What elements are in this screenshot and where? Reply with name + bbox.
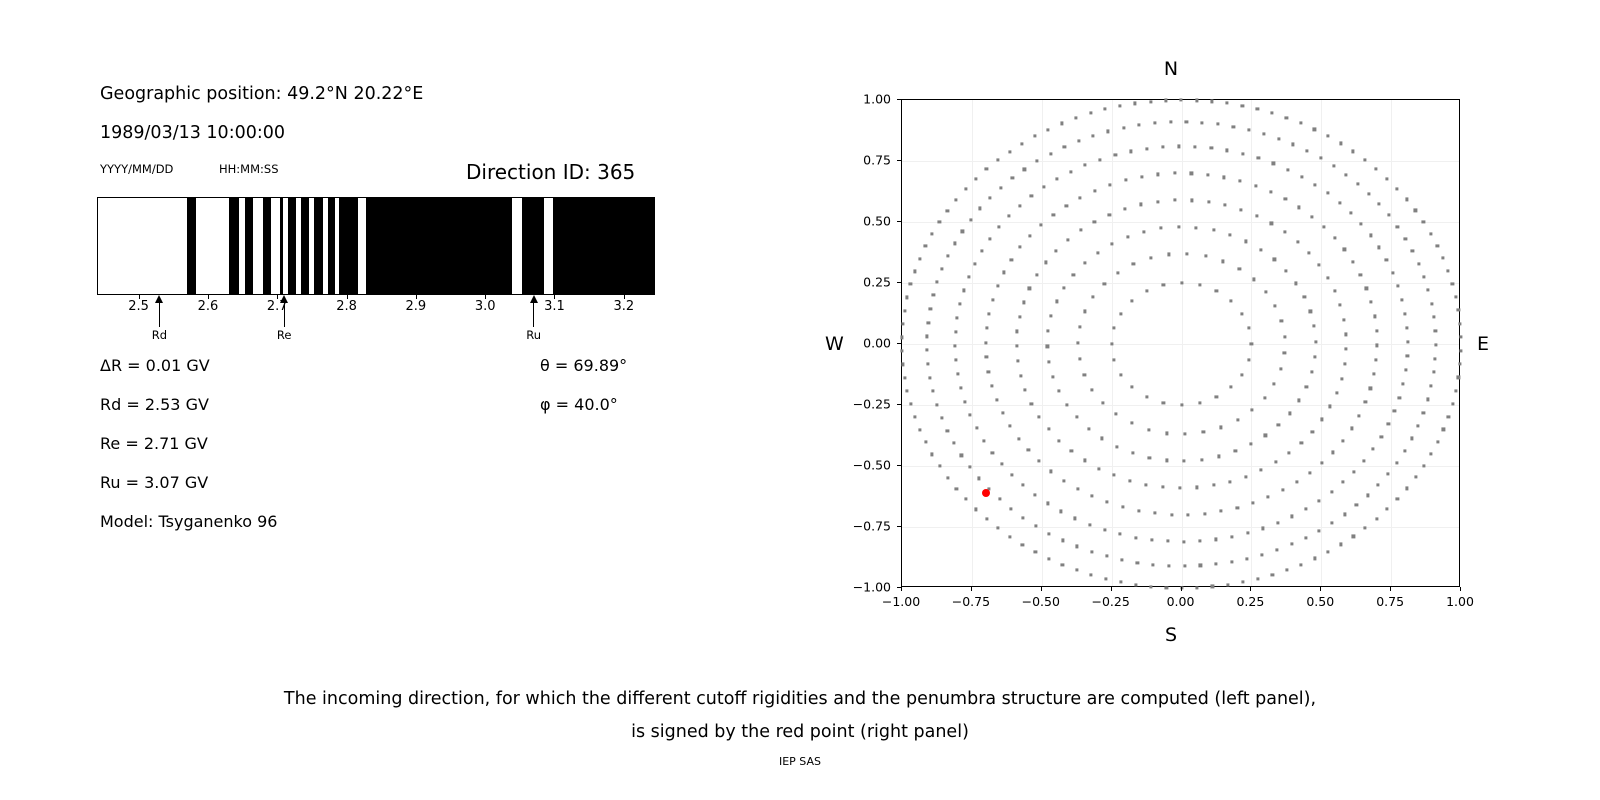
direction-dot bbox=[1442, 257, 1445, 260]
direction-dot bbox=[1137, 123, 1140, 126]
direction-dot bbox=[1372, 447, 1375, 450]
direction-dot bbox=[1047, 128, 1050, 131]
direction-dot bbox=[1333, 236, 1336, 239]
direction-dot bbox=[1018, 315, 1021, 318]
direction-dot bbox=[1072, 273, 1075, 276]
direction-dot bbox=[1386, 508, 1389, 511]
direction-dot bbox=[1180, 403, 1183, 406]
direction-dot bbox=[1079, 196, 1082, 199]
direction-dot bbox=[1296, 240, 1299, 243]
direction-dot bbox=[959, 386, 962, 389]
direction-dot bbox=[1364, 526, 1367, 529]
direction-dot bbox=[1047, 532, 1050, 535]
direction-dot bbox=[1386, 472, 1389, 475]
direction-dot bbox=[1297, 206, 1300, 209]
direction-dot bbox=[1019, 246, 1022, 249]
direction-dot bbox=[1180, 98, 1183, 101]
direction-dot bbox=[1241, 152, 1244, 155]
direction-dot bbox=[1010, 258, 1013, 261]
direction-dot bbox=[1075, 569, 1078, 572]
direction-dot bbox=[997, 226, 1000, 229]
direction-dot bbox=[1375, 358, 1378, 361]
direction-dot bbox=[1251, 408, 1254, 411]
direction-dot bbox=[1083, 261, 1086, 264]
direction-dot bbox=[1132, 262, 1135, 265]
direction-dot bbox=[1063, 145, 1066, 148]
x-axis-tick-label: −0.25 bbox=[1091, 594, 1129, 609]
direction-dot bbox=[1318, 263, 1321, 266]
direction-dot bbox=[1050, 314, 1053, 317]
caption-line-2: is signed by the red point (right panel) bbox=[0, 716, 1600, 749]
direction-dot bbox=[1110, 342, 1113, 345]
direction-dot bbox=[1285, 116, 1288, 119]
direction-dot bbox=[1009, 507, 1012, 510]
direction-dot bbox=[1363, 459, 1366, 462]
direction-dot bbox=[995, 398, 998, 401]
y-axis-tick-label: −1.00 bbox=[839, 580, 891, 595]
direction-dot bbox=[1458, 322, 1461, 325]
x-axis-tick bbox=[1460, 587, 1461, 591]
direction-dot bbox=[1183, 564, 1186, 567]
direction-dot bbox=[1270, 112, 1273, 115]
direction-dot bbox=[1340, 377, 1343, 380]
caption-line-1: The incoming direction, for which the di… bbox=[0, 683, 1600, 716]
direction-dot bbox=[991, 298, 994, 301]
direction-dot bbox=[1422, 411, 1425, 414]
direction-dot bbox=[996, 159, 999, 162]
direction-dot bbox=[1387, 214, 1390, 217]
direction-dot bbox=[1165, 459, 1168, 462]
direction-dot bbox=[1116, 271, 1119, 274]
direction-dot bbox=[1351, 260, 1354, 263]
direction-dot bbox=[1216, 123, 1219, 126]
direction-dot bbox=[1137, 509, 1140, 512]
x-axis-tick-label: −1.00 bbox=[882, 594, 920, 609]
y-axis-tick-label: 1.00 bbox=[839, 92, 891, 107]
direction-dot bbox=[1345, 348, 1348, 351]
direction-dot bbox=[1019, 374, 1022, 377]
direction-dot bbox=[1262, 132, 1265, 135]
direction-dot bbox=[1035, 273, 1038, 276]
direction-dot bbox=[927, 321, 930, 324]
y-axis-tick bbox=[897, 587, 901, 588]
direction-dot bbox=[1033, 135, 1036, 138]
x-axis-tick bbox=[1390, 587, 1391, 591]
direction-dot bbox=[1060, 510, 1063, 513]
direction-dot bbox=[1335, 391, 1338, 394]
direction-dot bbox=[1403, 449, 1406, 452]
direction-dot bbox=[1365, 287, 1368, 290]
direction-dot bbox=[1256, 108, 1259, 111]
direction-dot bbox=[998, 498, 1001, 501]
direction-dot bbox=[1241, 104, 1244, 107]
direction-dot bbox=[927, 362, 930, 365]
direction-dot bbox=[926, 335, 929, 338]
direction-dot bbox=[1313, 325, 1316, 328]
direction-dot bbox=[1090, 494, 1093, 497]
y-axis-tick bbox=[897, 343, 901, 344]
direction-dot bbox=[946, 476, 949, 479]
direction-dot bbox=[903, 376, 906, 379]
direction-dot bbox=[1210, 146, 1213, 149]
direction-dot bbox=[1099, 158, 1102, 161]
direction-dot bbox=[1016, 330, 1019, 333]
direction-dot bbox=[1055, 300, 1058, 303]
y-axis-tick bbox=[897, 99, 901, 100]
gridline-vertical bbox=[1321, 100, 1322, 586]
direction-dot bbox=[1363, 158, 1366, 161]
x-axis-tick bbox=[971, 587, 972, 591]
direction-dot bbox=[1119, 373, 1122, 376]
direction-dot bbox=[1108, 213, 1111, 216]
direction-dot bbox=[1030, 194, 1033, 197]
direction-dot bbox=[906, 389, 909, 392]
direction-dot bbox=[1430, 384, 1433, 387]
selected-direction-point[interactable] bbox=[982, 489, 990, 497]
direction-dot bbox=[1202, 431, 1205, 434]
direction-dot bbox=[1451, 282, 1454, 285]
sky-map-plot-area bbox=[901, 99, 1460, 587]
direction-dot bbox=[1375, 517, 1378, 520]
direction-dot bbox=[1417, 262, 1420, 265]
direction-dot bbox=[1246, 531, 1249, 534]
direction-dot bbox=[1066, 238, 1069, 241]
direction-dot bbox=[1070, 450, 1073, 453]
direction-dot bbox=[1215, 562, 1218, 565]
direction-dot bbox=[1393, 410, 1396, 413]
direction-dot bbox=[1240, 312, 1243, 315]
direction-dot bbox=[1149, 100, 1152, 103]
direction-dot bbox=[1186, 252, 1189, 255]
direction-dot bbox=[975, 426, 978, 429]
direction-dot bbox=[1047, 360, 1050, 363]
direction-dot bbox=[1075, 416, 1078, 419]
direction-dot bbox=[1422, 464, 1425, 467]
direction-dot bbox=[1395, 461, 1398, 464]
direction-dot bbox=[1380, 435, 1383, 438]
direction-dot bbox=[1454, 295, 1457, 298]
direction-dot bbox=[1119, 104, 1122, 107]
direction-dot bbox=[1144, 483, 1147, 486]
direction-dot bbox=[1077, 139, 1080, 142]
direction-dot bbox=[1134, 536, 1137, 539]
direction-dot bbox=[985, 327, 988, 330]
direction-dot bbox=[1119, 312, 1122, 315]
direction-dot bbox=[1124, 179, 1127, 182]
direction-dot bbox=[929, 307, 932, 310]
direction-dot bbox=[982, 439, 985, 442]
direction-dot bbox=[1313, 355, 1316, 358]
direction-dot bbox=[1140, 203, 1143, 206]
direction-dot bbox=[1140, 175, 1143, 178]
direction-dot bbox=[1046, 345, 1049, 348]
direction-dot bbox=[1326, 550, 1329, 553]
direction-dot bbox=[1414, 476, 1417, 479]
direction-dot bbox=[1396, 225, 1399, 228]
direction-dot bbox=[1352, 535, 1355, 538]
direction-dot bbox=[1156, 200, 1159, 203]
direction-dot bbox=[985, 356, 988, 359]
direction-dot bbox=[1285, 568, 1288, 571]
direction-dot bbox=[1198, 539, 1201, 542]
direction-dot bbox=[1326, 192, 1329, 195]
direction-dot bbox=[1250, 342, 1253, 345]
direction-dot bbox=[1308, 251, 1311, 254]
direction-dot bbox=[1034, 524, 1037, 527]
direction-dot bbox=[996, 284, 999, 287]
y-axis-tick-label: −0.50 bbox=[839, 458, 891, 473]
direction-dot bbox=[1416, 424, 1419, 427]
direction-dot bbox=[974, 177, 977, 180]
direction-dot bbox=[1229, 386, 1232, 389]
direction-dot bbox=[1238, 268, 1241, 271]
direction-dot bbox=[1230, 535, 1233, 538]
direction-dot bbox=[1040, 223, 1043, 226]
direction-dot bbox=[955, 316, 958, 319]
direction-dot bbox=[1247, 358, 1250, 361]
direction-dot bbox=[1177, 225, 1180, 228]
direction-dot bbox=[1378, 203, 1381, 206]
direction-dot bbox=[1149, 585, 1152, 588]
direction-dot bbox=[1165, 586, 1168, 589]
direction-dot bbox=[931, 390, 934, 393]
direction-dot bbox=[1207, 200, 1210, 203]
direction-dot bbox=[999, 186, 1002, 189]
direction-dot bbox=[1090, 550, 1093, 553]
direction-dot bbox=[1458, 362, 1461, 365]
x-axis-tick bbox=[1250, 587, 1251, 591]
direction-dot bbox=[1309, 310, 1312, 313]
direction-dot bbox=[1226, 149, 1229, 152]
direction-dot bbox=[1406, 326, 1409, 329]
x-axis-tick bbox=[1181, 587, 1182, 591]
direction-dot bbox=[1130, 386, 1133, 389]
x-axis-tick-label: 0.00 bbox=[1167, 594, 1195, 609]
direction-dot bbox=[1343, 362, 1346, 365]
direction-dot bbox=[1126, 235, 1129, 238]
direction-dot bbox=[1089, 112, 1092, 115]
direction-dot bbox=[1385, 258, 1388, 261]
direction-dot bbox=[1376, 483, 1379, 486]
gridline-vertical bbox=[1391, 100, 1392, 586]
direction-dot bbox=[1411, 249, 1414, 252]
direction-dot bbox=[1196, 586, 1199, 589]
y-axis-tick-label: 0.25 bbox=[839, 275, 891, 290]
direction-dot bbox=[1065, 204, 1068, 207]
x-axis-tick-label: −0.50 bbox=[1022, 594, 1060, 609]
direction-dot bbox=[1112, 474, 1115, 477]
direction-dot bbox=[1131, 452, 1134, 455]
direction-dot bbox=[1173, 172, 1176, 175]
direction-dot bbox=[1050, 470, 1053, 473]
direction-dot bbox=[1038, 460, 1041, 463]
direction-dot bbox=[962, 289, 965, 292]
direction-dot bbox=[1273, 382, 1276, 385]
direction-dot bbox=[1083, 459, 1086, 462]
direction-dot bbox=[1190, 172, 1193, 175]
direction-dot bbox=[1239, 179, 1242, 182]
direction-dot bbox=[956, 373, 959, 376]
direction-dot bbox=[1313, 128, 1316, 131]
direction-dot bbox=[1459, 335, 1462, 338]
direction-dot bbox=[1123, 207, 1126, 210]
direction-dot bbox=[1147, 428, 1150, 431]
direction-dot bbox=[964, 187, 967, 190]
direction-dot bbox=[1184, 433, 1187, 436]
x-axis-tick bbox=[901, 587, 902, 591]
direction-dot bbox=[977, 477, 980, 480]
direction-dot bbox=[1447, 269, 1450, 272]
direction-dot bbox=[1283, 335, 1286, 338]
direction-dot bbox=[988, 196, 991, 199]
direction-dot bbox=[1154, 512, 1157, 515]
direction-dot bbox=[1391, 271, 1394, 274]
direction-dot bbox=[1075, 116, 1078, 119]
direction-dot bbox=[1281, 489, 1284, 492]
direction-dot bbox=[1343, 248, 1346, 251]
direction-dot bbox=[926, 349, 929, 352]
direction-dot bbox=[1178, 145, 1181, 148]
direction-dot bbox=[1284, 198, 1287, 201]
direction-dot bbox=[1355, 504, 1358, 507]
direction-dot bbox=[1128, 479, 1131, 482]
x-axis-tick bbox=[1041, 587, 1042, 591]
direction-dot bbox=[954, 345, 957, 348]
direction-dot bbox=[1314, 183, 1317, 186]
direction-dot bbox=[1107, 130, 1110, 133]
direction-dot bbox=[1457, 376, 1460, 379]
compass-north-label: N bbox=[1164, 58, 1178, 80]
direction-dot bbox=[1299, 122, 1302, 125]
direction-dot bbox=[1319, 157, 1322, 160]
direction-dot bbox=[1332, 164, 1335, 167]
direction-dot bbox=[1148, 456, 1151, 459]
direction-dot bbox=[906, 296, 909, 299]
direction-dot bbox=[913, 270, 916, 273]
direction-dot bbox=[1060, 122, 1063, 125]
direction-dot bbox=[946, 209, 949, 212]
direction-dot bbox=[901, 363, 904, 366]
direction-dot bbox=[1062, 479, 1065, 482]
direction-dot bbox=[1459, 349, 1462, 352]
direction-dot bbox=[1062, 286, 1065, 289]
direction-dot bbox=[1020, 142, 1023, 145]
direction-dot bbox=[901, 336, 904, 339]
direction-dot bbox=[1370, 301, 1373, 304]
direction-dot bbox=[1008, 150, 1011, 153]
direction-dot bbox=[1047, 557, 1050, 560]
direction-dot bbox=[1240, 208, 1243, 211]
direction-dot bbox=[1021, 543, 1024, 546]
direction-dot bbox=[1401, 298, 1404, 301]
direction-dot bbox=[1303, 295, 1306, 298]
direction-dot bbox=[961, 230, 964, 233]
direction-dot bbox=[1167, 253, 1170, 256]
direction-dot bbox=[1110, 242, 1113, 245]
direction-dot bbox=[913, 415, 916, 418]
direction-dot bbox=[901, 322, 904, 325]
direction-dot bbox=[1344, 173, 1347, 176]
direction-dot bbox=[1122, 126, 1125, 129]
direction-dot bbox=[1214, 538, 1217, 541]
direction-dot bbox=[901, 349, 904, 352]
y-axis-tick-label: −0.75 bbox=[839, 519, 891, 534]
direction-dot bbox=[1104, 577, 1107, 580]
direction-dot bbox=[1228, 480, 1231, 483]
direction-dot bbox=[1297, 399, 1300, 402]
direction-dot bbox=[1366, 494, 1369, 497]
direction-dot bbox=[1162, 401, 1165, 404]
direction-dot bbox=[1414, 209, 1417, 212]
direction-dot bbox=[1427, 288, 1430, 291]
direction-dot bbox=[1264, 434, 1267, 437]
direction-dot bbox=[1044, 261, 1047, 264]
direction-dot bbox=[1283, 351, 1286, 354]
direction-dot bbox=[1364, 401, 1367, 404]
direction-dot bbox=[1160, 227, 1163, 230]
direction-dot bbox=[1436, 440, 1439, 443]
direction-dot bbox=[978, 207, 981, 210]
y-axis-tick-label: 0.75 bbox=[839, 153, 891, 168]
direction-dot bbox=[1030, 402, 1033, 405]
direction-dot bbox=[1220, 426, 1223, 429]
direction-dot bbox=[1398, 396, 1401, 399]
direction-dot bbox=[909, 402, 912, 405]
direction-dot bbox=[985, 517, 988, 520]
direction-dot bbox=[1150, 538, 1153, 541]
direction-dot bbox=[1100, 437, 1103, 440]
x-axis-tick-label: 0.50 bbox=[1306, 594, 1334, 609]
direction-dot bbox=[1134, 102, 1137, 105]
direction-dot bbox=[1257, 157, 1260, 160]
direction-dot bbox=[1286, 168, 1289, 171]
gridline-vertical bbox=[1042, 100, 1043, 586]
direction-dot bbox=[1331, 521, 1334, 524]
direction-dot bbox=[1047, 428, 1050, 431]
direction-dot bbox=[1270, 222, 1273, 225]
direction-dot bbox=[1206, 173, 1209, 176]
direction-dot bbox=[1396, 497, 1399, 500]
direction-dot bbox=[931, 453, 934, 456]
direction-dot bbox=[1290, 543, 1293, 546]
direction-dot bbox=[1369, 387, 1372, 390]
direction-dot bbox=[1426, 398, 1429, 401]
x-axis-tick bbox=[1320, 587, 1321, 591]
direction-dot bbox=[1273, 258, 1276, 261]
direction-dot bbox=[1310, 215, 1313, 218]
direction-dot bbox=[1404, 237, 1407, 240]
direction-dot bbox=[1264, 290, 1267, 293]
direction-dot bbox=[1251, 501, 1254, 504]
direction-dot bbox=[1247, 128, 1250, 131]
y-axis-tick bbox=[897, 404, 901, 405]
gridline-horizontal bbox=[902, 161, 1459, 162]
y-axis-tick bbox=[897, 465, 901, 466]
direction-dot bbox=[1254, 184, 1257, 187]
direction-dot bbox=[1088, 523, 1091, 526]
direction-dot bbox=[1436, 244, 1439, 247]
direction-dot bbox=[1212, 484, 1215, 487]
direction-dot bbox=[1369, 234, 1372, 237]
direction-dot bbox=[1015, 345, 1018, 348]
direction-dot bbox=[1434, 343, 1437, 346]
direction-dot bbox=[1367, 192, 1370, 195]
direction-dot bbox=[1271, 573, 1274, 576]
direction-dot bbox=[1212, 229, 1215, 232]
direction-dot bbox=[1055, 177, 1058, 180]
direction-dot bbox=[1236, 506, 1239, 509]
direction-dot bbox=[1022, 516, 1025, 519]
